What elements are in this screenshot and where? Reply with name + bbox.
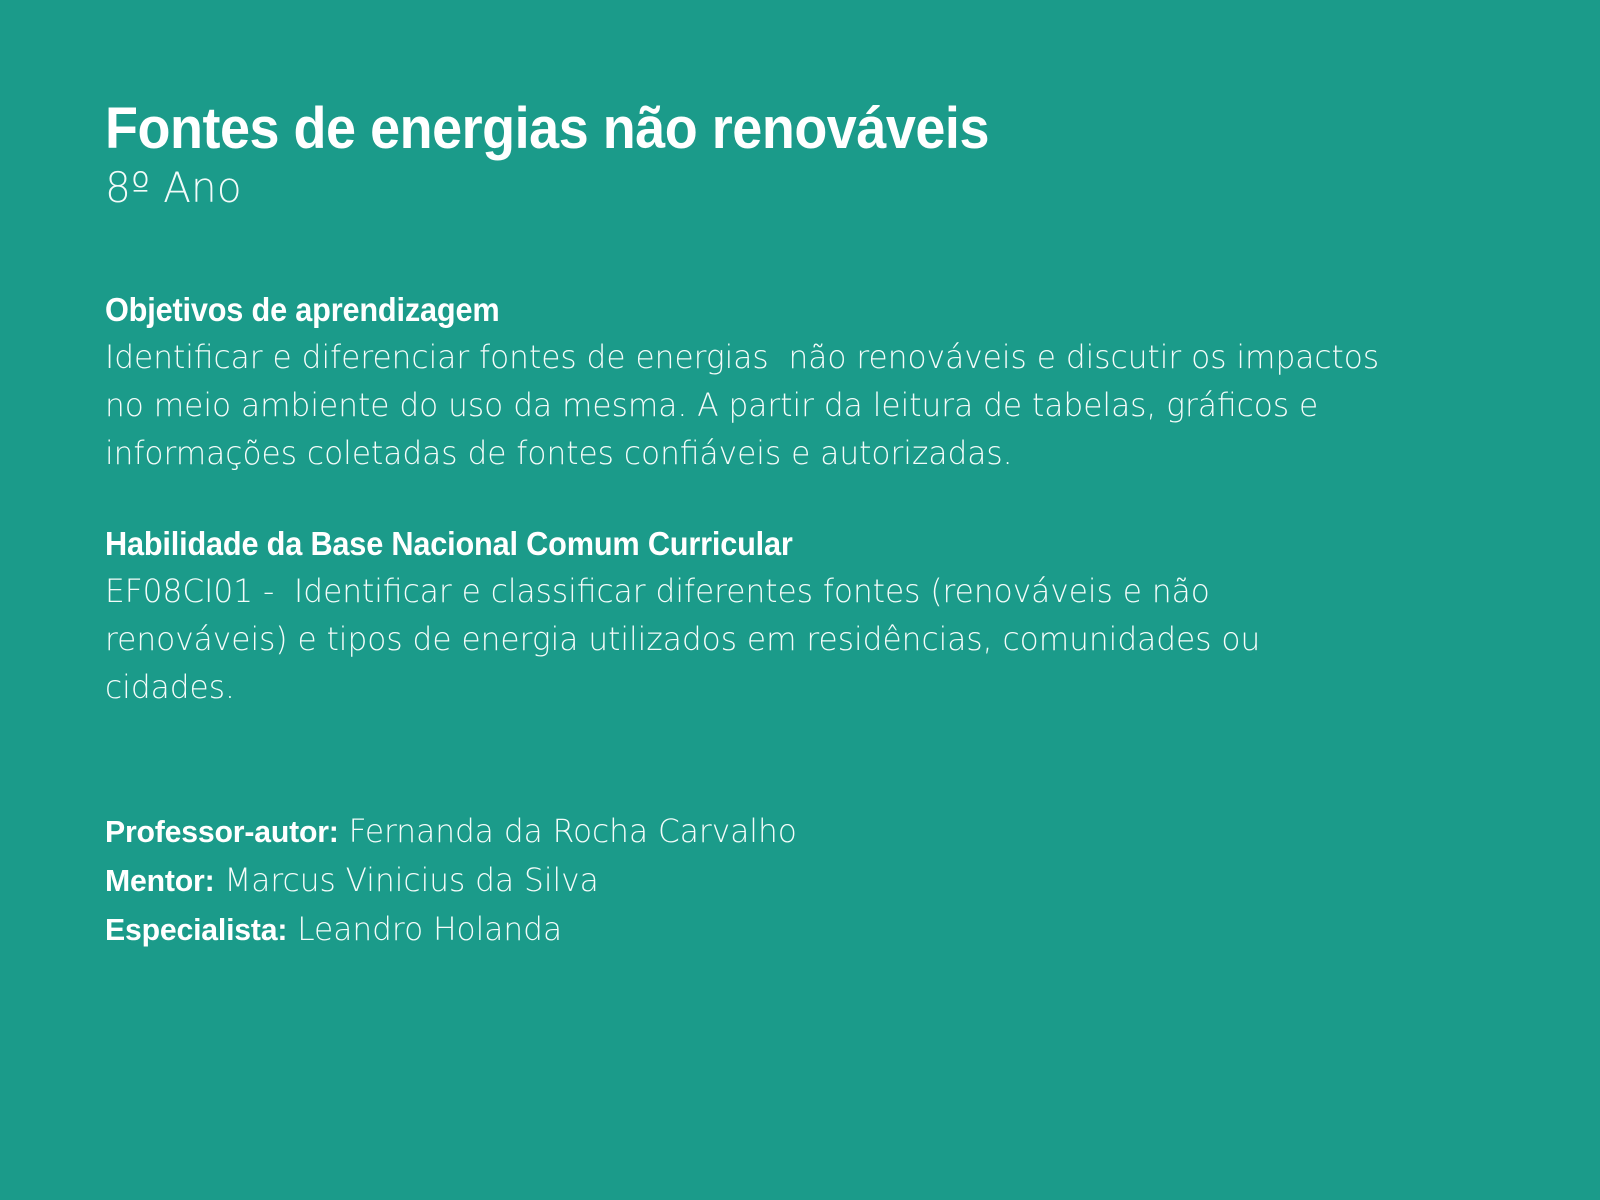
credit-value-mentor: Marcus Vinicius da Silva — [214, 861, 598, 899]
credit-line-especialista: Especialista: Leandro Holanda — [105, 905, 1392, 954]
credit-line-mentor: Mentor: Marcus Vinicius da Silva — [105, 856, 1392, 905]
page-title: Fontes de energias não renováveis — [105, 98, 1333, 159]
section-heading-habilidade-bncc: Habilidade da Base Nacional Comum Curric… — [105, 523, 1333, 565]
section-habilidade-bncc: Habilidade da Base Nacional Comum Curric… — [105, 523, 1425, 711]
credit-label-especialista: Especialista: — [105, 912, 287, 947]
credit-line-professor-autor: Professor-autor: Fernanda da Rocha Carva… — [105, 807, 1392, 856]
section-heading-objetivos: Objetivos de aprendizagem — [105, 289, 1333, 331]
section-body-objetivos: Identificar e diferenciar fontes de ener… — [105, 333, 1382, 477]
credits-block: Professor-autor: Fernanda da Rocha Carva… — [105, 807, 1425, 954]
credit-label-professor-autor: Professor-autor: — [105, 814, 339, 849]
slide-root: Fontes de energias não renováveis 8º Ano… — [0, 0, 1600, 1200]
credit-value-professor-autor: Fernanda da Rocha Carvalho — [339, 812, 797, 850]
credit-value-especialista: Leandro Holanda — [287, 910, 562, 948]
section-objetivos: Objetivos de aprendizagem Identificar e … — [105, 289, 1425, 477]
title-block: Fontes de energias não renováveis 8º Ano — [105, 98, 1425, 213]
page-subtitle: 8º Ano — [105, 163, 1385, 213]
slide-content: Fontes de energias não renováveis 8º Ano… — [105, 98, 1425, 954]
section-body-habilidade-bncc: EF08CI01 - Identificar e classificar dif… — [105, 567, 1382, 711]
credit-label-mentor: Mentor: — [105, 863, 214, 898]
